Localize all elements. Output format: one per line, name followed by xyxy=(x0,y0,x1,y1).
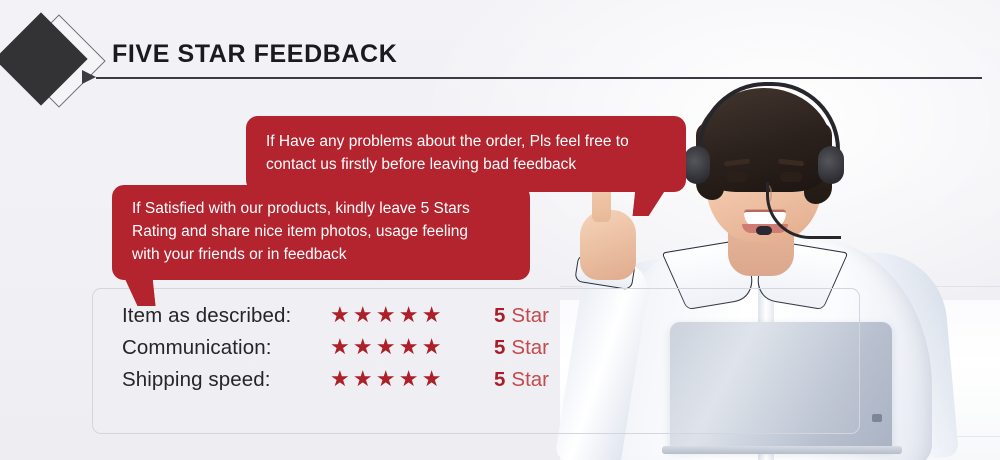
bubble-line: with your friends or in feedback xyxy=(132,243,512,266)
rating-label: Shipping speed: xyxy=(122,368,330,392)
rating-score: 5 xyxy=(494,368,505,392)
headset-earcup-right-icon xyxy=(818,146,844,184)
headset-band-icon xyxy=(698,82,840,156)
bubble-line: contact us firstly before leaving bad fe… xyxy=(266,153,668,176)
rating-row-item-as-described: Item as described: ★★★★★ 5 Star xyxy=(122,302,549,328)
bubble-line: If Satisfied with our products, kindly l… xyxy=(132,197,512,220)
eye-right xyxy=(780,172,802,182)
rule-arrow-icon xyxy=(82,70,96,84)
page-title: FIVE STAR FEEDBACK xyxy=(112,40,397,69)
five-star-feedback-banner: FIVE STAR FEEDBACK xyxy=(0,0,1000,460)
laptop-port xyxy=(872,414,882,422)
speech-bubble-problems: If Have any problems about the order, Pl… xyxy=(246,116,686,192)
headset-mic-tip-icon xyxy=(756,226,772,235)
rating-label: Communication: xyxy=(122,336,330,360)
rating-row-shipping-speed: Shipping speed: ★★★★★ 5 Star xyxy=(122,366,549,392)
rating-unit: Star xyxy=(511,336,549,360)
star-rating-icon: ★★★★★ xyxy=(330,302,482,328)
bubble-tail xyxy=(125,278,156,306)
eye-left xyxy=(726,172,748,182)
rating-unit: Star xyxy=(511,304,549,328)
rating-unit: Star xyxy=(511,368,549,392)
speech-bubble-satisfied: If Satisfied with our products, kindly l… xyxy=(112,185,530,280)
star-rating-icon: ★★★★★ xyxy=(330,334,482,360)
rating-row-communication: Communication: ★★★★★ 5 Star xyxy=(122,334,549,360)
rating-label: Item as described: xyxy=(122,304,330,328)
bubble-tail xyxy=(633,190,666,216)
bubble-line: If Have any problems about the order, Pl… xyxy=(266,130,668,153)
rating-score: 5 xyxy=(494,336,505,360)
headset-earcup-left-icon xyxy=(684,146,710,184)
star-rating-icon: ★★★★★ xyxy=(330,366,482,392)
bubble-line: Rating and share nice item photos, usage… xyxy=(132,220,512,243)
rating-score: 5 xyxy=(494,304,505,328)
laptop-base xyxy=(662,446,902,454)
ratings-list: Item as described: ★★★★★ 5 Star Communic… xyxy=(122,302,549,392)
